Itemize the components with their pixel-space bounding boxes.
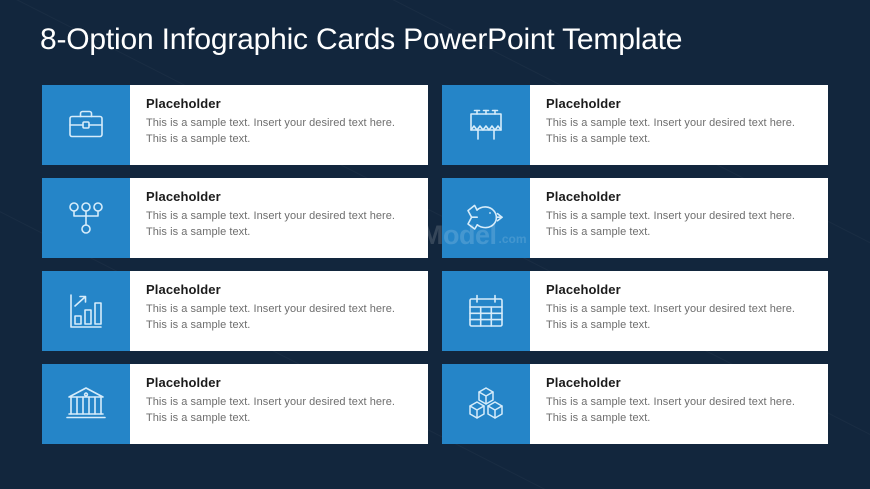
card-body: Placeholder This is a sample text. Inser…	[130, 364, 428, 444]
card-icon-tile	[42, 85, 130, 165]
slide-canvas: 8-Option Infographic Cards PowerPoint Te…	[0, 0, 870, 489]
card-icon-tile	[42, 271, 130, 351]
card-body: Placeholder This is a sample text. Inser…	[130, 271, 428, 351]
card-icon-tile	[42, 178, 130, 258]
card-body: Placeholder This is a sample text. Inser…	[530, 85, 828, 165]
card-icon-tile	[442, 178, 530, 258]
stacked-cubes-icon	[465, 383, 507, 425]
card-text: This is a sample text. Insert your desir…	[146, 209, 414, 240]
card-text: This is a sample text. Insert your desir…	[146, 395, 414, 426]
card-body: Placeholder This is a sample text. Inser…	[530, 364, 828, 444]
card-text: This is a sample text. Insert your desir…	[546, 302, 814, 333]
card-icon-tile	[442, 364, 530, 444]
info-card[interactable]: Placeholder This is a sample text. Inser…	[42, 178, 428, 258]
fish-icon	[464, 198, 508, 238]
info-card[interactable]: Placeholder This is a sample text. Inser…	[442, 364, 828, 444]
card-body: Placeholder This is a sample text. Inser…	[130, 178, 428, 258]
billboard-icon	[465, 104, 507, 146]
cards-grid: Placeholder This is a sample text. Inser…	[42, 85, 828, 453]
info-card[interactable]: Placeholder This is a sample text. Inser…	[42, 271, 428, 351]
card-icon-tile	[42, 364, 130, 444]
card-text: This is a sample text. Insert your desir…	[546, 209, 814, 240]
card-title: Placeholder	[546, 375, 814, 391]
info-card[interactable]: Placeholder This is a sample text. Inser…	[42, 85, 428, 165]
card-body: Placeholder This is a sample text. Inser…	[530, 178, 828, 258]
slide-title: 8-Option Infographic Cards PowerPoint Te…	[40, 23, 682, 57]
card-title: Placeholder	[546, 189, 814, 205]
card-title: Placeholder	[146, 282, 414, 298]
card-text: This is a sample text. Insert your desir…	[146, 116, 414, 147]
calendar-icon	[465, 290, 507, 332]
card-title: Placeholder	[546, 282, 814, 298]
card-title: Placeholder	[546, 96, 814, 112]
card-title: Placeholder	[146, 189, 414, 205]
card-text: This is a sample text. Insert your desir…	[546, 116, 814, 147]
bank-building-icon	[65, 383, 107, 425]
briefcase-icon	[65, 104, 107, 146]
card-body: Placeholder This is a sample text. Inser…	[130, 85, 428, 165]
card-text: This is a sample text. Insert your desir…	[546, 395, 814, 426]
growth-bar-chart-icon	[65, 290, 107, 332]
info-card[interactable]: Placeholder This is a sample text. Inser…	[442, 271, 828, 351]
card-title: Placeholder	[146, 375, 414, 391]
card-body: Placeholder This is a sample text. Inser…	[530, 271, 828, 351]
card-text: This is a sample text. Insert your desir…	[146, 302, 414, 333]
card-icon-tile	[442, 271, 530, 351]
info-card[interactable]: Placeholder This is a sample text. Inser…	[42, 364, 428, 444]
card-title: Placeholder	[146, 96, 414, 112]
info-card[interactable]: Placeholder This is a sample text. Inser…	[442, 85, 828, 165]
info-card[interactable]: Placeholder This is a sample text. Inser…	[442, 178, 828, 258]
org-hierarchy-icon	[65, 197, 107, 239]
card-icon-tile	[442, 85, 530, 165]
